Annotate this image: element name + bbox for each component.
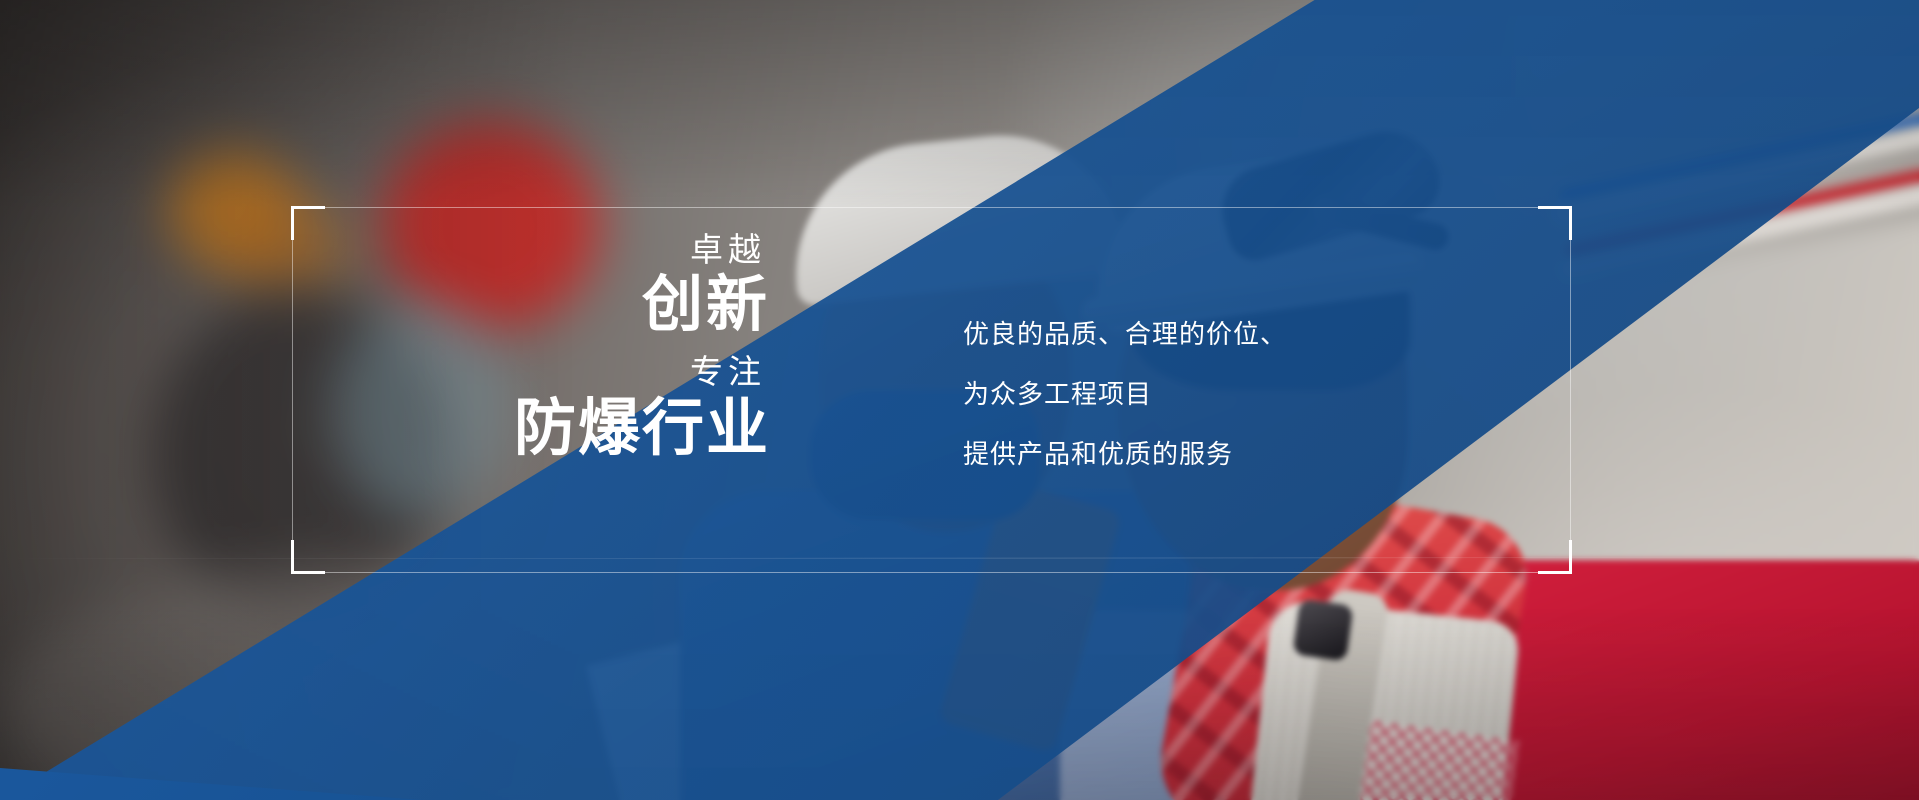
copy-line-2: 为众多工程项目 xyxy=(963,380,1287,409)
headline-kicker-excellence: 卓越 xyxy=(330,232,770,269)
corner-bar-vertical xyxy=(1569,206,1572,240)
corner-bar-vertical xyxy=(291,540,294,574)
corner-bar-vertical xyxy=(1569,540,1572,574)
copy-block: 优良的品质、合理的价位、 为众多工程项目 提供产品和优质的服务 xyxy=(963,320,1287,469)
copy-line-3: 提供产品和优质的服务 xyxy=(963,440,1287,469)
corner-bar-vertical xyxy=(291,206,294,240)
copy-line-1: 优良的品质、合理的价位、 xyxy=(963,320,1287,349)
headline-title-innovation: 创新 xyxy=(330,271,770,338)
headline-block: 卓越 创新 专注 防爆行业 xyxy=(330,232,770,463)
hero-banner: 卓越 创新 专注 防爆行业 优良的品质、合理的价位、 为众多工程项目 提供产品和… xyxy=(0,0,1919,800)
corner-bar-horizontal xyxy=(291,206,325,209)
corner-bar-horizontal xyxy=(1538,206,1572,209)
headline-title-industry: 防爆行业 xyxy=(330,395,770,463)
headline-kicker-focus: 专注 xyxy=(330,354,770,391)
corner-bar-horizontal xyxy=(1538,571,1572,574)
corner-bar-horizontal xyxy=(291,571,325,574)
